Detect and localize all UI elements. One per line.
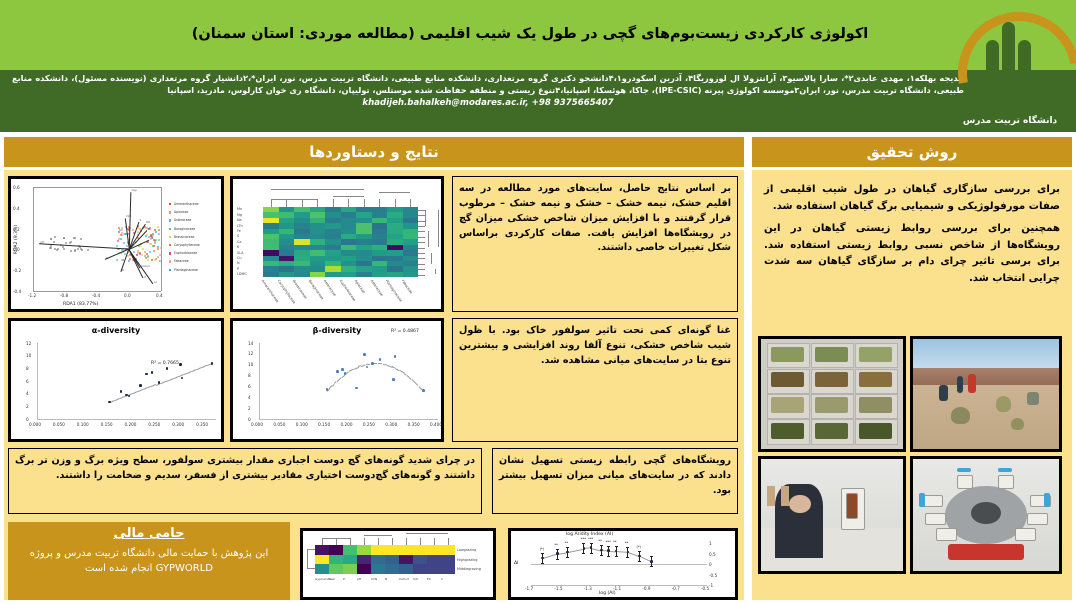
rda-species-point <box>157 248 159 250</box>
xtick: 0.250 <box>363 422 375 427</box>
heatmap-row-label: Mg <box>237 213 242 217</box>
facil-errorbar-cap <box>615 546 618 547</box>
facil-errorbar-cap <box>615 556 618 557</box>
grazing-row-label: Lowgrazing <box>457 548 476 552</box>
grazing-heatmap-cell <box>315 555 329 565</box>
rda-species-point <box>157 226 159 228</box>
rda-legend-swatch <box>169 236 171 238</box>
heatmap-row-label: Ca <box>237 240 241 244</box>
rda-species-point <box>157 256 159 258</box>
grazing-col-dendro-leaf <box>434 538 435 545</box>
data-point <box>181 377 184 380</box>
grazing-heatmap-cell <box>329 555 343 565</box>
facil-significance-label: *** <box>606 540 611 544</box>
ytick: 8 <box>248 373 251 378</box>
rda-species-point <box>81 249 83 251</box>
grazing-heatmap-cell <box>357 564 371 574</box>
facil-data-point <box>615 550 618 553</box>
rda-species-point <box>136 254 138 256</box>
grazing-heatmap-cell <box>343 555 357 565</box>
facil-errorbar-cap <box>607 546 610 547</box>
heatmap-cell <box>310 272 326 277</box>
photo-field-sampling-gypsum-site <box>910 336 1062 452</box>
rda-axis-frame <box>33 187 161 188</box>
facil-errorbar-cap <box>541 563 544 564</box>
grazing-col-dendro-leaf <box>406 538 407 545</box>
rda-species-point <box>124 233 126 235</box>
xtick: 0.150 <box>101 422 113 427</box>
rda-species-point <box>158 233 160 235</box>
facil-errorbar-cap <box>556 549 559 550</box>
heatmap-row-dendro-leaf <box>418 237 425 238</box>
rda-ytick: 0.0 <box>13 247 20 252</box>
ytick: 4 <box>248 395 251 400</box>
rda-species-point <box>151 259 153 261</box>
facil-errorbar-cap <box>590 553 593 554</box>
rda-species-point <box>80 238 82 240</box>
heatmap-row-dendro-link <box>435 269 436 274</box>
ytick: 6 <box>248 384 251 389</box>
facil-ytick: -0.5 <box>709 573 717 578</box>
section-header-results: نتایج و دستاوردها <box>4 137 744 167</box>
heatmap-col-dendro-leaf <box>348 199 349 207</box>
axis-y <box>37 343 38 419</box>
rda-species-point <box>77 248 79 250</box>
rda-species-point <box>147 259 149 261</box>
rda-plot-area: RDA1 (83.77%) RDA2 (9.3%) -1.2-0.8-0.40.… <box>11 179 221 309</box>
rda-legend-label: Caryophyllaceae <box>174 243 200 247</box>
rda-species-point <box>63 237 65 239</box>
rda-species-point <box>152 234 154 236</box>
heatmap-cell <box>387 272 403 277</box>
facil-data-point <box>650 560 653 563</box>
rda-env-label: C <box>106 257 108 260</box>
rda-legend-swatch <box>169 219 171 221</box>
heatmap-col-dendro-link <box>333 196 364 197</box>
rda-species-point <box>145 227 147 229</box>
heatmap-row-label: Na <box>237 218 242 222</box>
rda-species-point <box>132 229 134 231</box>
rda-xtick: -0.8 <box>60 293 68 298</box>
grazing-col-dendro-leaf <box>336 538 337 545</box>
heatmap-row-dendro-link <box>438 210 439 248</box>
rda-species-point <box>158 239 160 241</box>
heatmap-cell <box>341 272 357 277</box>
heatmap-col-label: Fabaceae <box>400 279 412 294</box>
rda-env-label: pH <box>40 241 44 244</box>
grazing-heatmap-cell <box>385 564 399 574</box>
heatmap-row-label: Fe <box>237 229 241 233</box>
rda-species-point <box>121 229 123 231</box>
grazing-heatmap-cell <box>441 545 455 555</box>
grazing-col-dendro-leaf <box>420 538 421 545</box>
rda-species-point <box>138 245 140 247</box>
heatmap-row-dendro-leaf <box>418 248 425 249</box>
rda-species-point <box>149 251 151 253</box>
rda-legend-label: Euphorbiaceae <box>174 251 197 255</box>
rda-env-label: AI <box>154 281 157 284</box>
rda-species-point <box>117 240 119 242</box>
photo-dried-plant-samples-trays <box>758 336 906 452</box>
heatmap-row-label: N <box>237 261 240 265</box>
heatmap-plot-area: MnMgNaLThFeSCaKSLACuNPLDMCAmaranthaceaeC… <box>233 179 441 309</box>
heatmap-cell <box>325 272 341 277</box>
facil-xtick: -0.7 <box>672 586 680 591</box>
results-text-2: غنا گونه‌ای کمی تحت تاثیر سولفور خاک بود… <box>452 318 738 442</box>
facil-significance-label: ** <box>598 539 601 543</box>
photo-lab-weighing-samples <box>758 456 906 574</box>
data-point <box>394 355 397 358</box>
axis-x <box>259 419 438 420</box>
method-paragraph-2: همچنین برای بررسی روابط زیستی گیاهان در … <box>764 221 1060 287</box>
heatmap-col-dendro-link <box>379 192 410 193</box>
rda-legend-label: Plantaginaceae <box>174 268 198 272</box>
xtick: 0.200 <box>341 422 353 427</box>
xtick: 0.350 <box>408 422 420 427</box>
ytick: 12 <box>26 341 31 346</box>
grazing-col-label: Cl/N <box>371 577 377 581</box>
grazing-heatmap-cell <box>399 545 413 555</box>
facil-errorbar-cap <box>582 553 585 554</box>
rda-ytick: 0.4 <box>13 206 20 211</box>
heatmap-col-dendro-leaf <box>395 199 396 207</box>
facil-ytick: 0 <box>709 562 712 567</box>
heatmap-row-label: P <box>237 267 239 271</box>
facil-ytick: -1 <box>709 583 713 588</box>
facil-significance-label: ** <box>613 540 616 544</box>
facil-data-point <box>583 547 586 550</box>
rda-legend-swatch <box>169 269 171 271</box>
grazing-heatmap-cell <box>413 564 427 574</box>
ytick: 10 <box>26 353 31 358</box>
data-point <box>128 395 131 398</box>
ytick: 6 <box>26 379 29 384</box>
grazing-heatmap-cell <box>315 545 329 555</box>
facil-ytick: 1 <box>709 541 712 546</box>
rda-species-point <box>70 250 72 252</box>
facil-significance-label: ** <box>565 541 568 545</box>
facil-data-point <box>556 552 559 555</box>
facil-fit-segment <box>568 548 584 552</box>
grazing-heatmap-cell <box>441 564 455 574</box>
facil-significance-label: *** <box>581 537 586 541</box>
grazing-heatmap-cell <box>427 545 441 555</box>
heatmap-cell <box>294 272 310 277</box>
grazing-heatmap-cell <box>371 564 385 574</box>
rda-x-axis <box>33 291 161 292</box>
rda-species-point <box>121 259 123 261</box>
rda-legend-swatch <box>169 244 171 246</box>
facil-errorbar-cap <box>556 559 559 560</box>
facil-errorbar-cap <box>638 551 641 552</box>
heatmap-row-label: LDMC <box>237 272 247 276</box>
rda-env-label: S <box>140 219 142 222</box>
rda-species-point <box>128 260 130 262</box>
grazing-col-dendro-leaf <box>392 538 393 545</box>
logo-leaf-icon <box>1002 22 1015 102</box>
rda-y-axis <box>33 187 34 291</box>
rda-species-point <box>50 247 52 249</box>
facil-errorbar-cap <box>650 566 653 567</box>
facil-data-point <box>607 549 610 552</box>
heatmap-row-dendro-link <box>425 210 426 226</box>
grazing-row-dendro-leaf <box>307 549 315 550</box>
rda-species-point <box>154 259 156 261</box>
data-point <box>355 387 358 390</box>
rda-species-point <box>118 227 120 229</box>
figure-facilitation-index: log (AI) log Aridity Index (AI) ΔI -1.7-… <box>508 528 738 600</box>
method-text-block: برای بررسی سازگاری گیاهان در طول شیب اقل… <box>758 178 1066 330</box>
rda-ytick: -0.4 <box>13 289 21 294</box>
xtick: 0.150 <box>318 422 330 427</box>
sponsor-box: حامی مالی این پژوهش با حمایت مالی دانشگا… <box>8 522 290 600</box>
rda-legend-label: Apiaceae <box>174 210 188 214</box>
rda-species-point <box>120 238 122 240</box>
heatmap-col-dendro-leaf <box>333 199 334 207</box>
data-point <box>371 362 374 365</box>
authors-block: خدیجه بهلکه۱، مهدی عابدی۲*، سارا پالاسیو… <box>8 71 968 131</box>
rda-species-point <box>54 236 56 238</box>
heatmap-row-label: SLA <box>237 251 243 255</box>
heatmap-cell <box>279 272 295 277</box>
grazing-col-dendro-leaf <box>364 538 365 545</box>
rda-legend-swatch <box>169 260 171 262</box>
grazing-heatmap-cell <box>427 555 441 565</box>
xtick: 0.300 <box>385 422 397 427</box>
rda-legend-label: Fabaceae <box>174 259 189 263</box>
facil-errorbar-cap <box>650 556 653 557</box>
ytick: 12 <box>248 351 253 356</box>
facil-errorbar-cap <box>566 557 569 558</box>
xtick: 0.350 <box>196 422 208 427</box>
heatmap-cell <box>372 272 388 277</box>
grazing-col-label: CaCo3 <box>399 577 409 581</box>
rda-env-label: Ca <box>150 237 153 240</box>
rda-env-label: CaCo3 <box>141 265 149 268</box>
facil-xtick: -1.1 <box>613 586 621 591</box>
facil-significance-label: (*) <box>540 547 544 551</box>
heatmap-row-label: Cu <box>237 256 242 260</box>
sponsor-title: حامی مالی <box>16 526 282 541</box>
ytick: 2 <box>26 404 29 409</box>
facil-errorbar-cap <box>566 547 569 548</box>
grazing-col-label: S <box>329 577 331 581</box>
grazing-row-label: Middlegrazing <box>457 567 481 571</box>
rda-legend-label: Asteraceae <box>174 218 191 222</box>
grazing-col-dendro-leaf <box>448 538 449 545</box>
grazing-heatmap-cell <box>357 555 371 565</box>
rda-legend-label: Amaranthaceae <box>174 202 199 206</box>
beta-plot-area: β-diversity R² = 0.4867 0.0000.0500.1000… <box>233 321 441 439</box>
facil-data-point <box>566 551 569 554</box>
rda-species-point <box>149 243 151 245</box>
data-point <box>120 390 123 393</box>
grazing-heatmap-cell <box>329 564 343 574</box>
grazing-heatmap-cell <box>343 545 357 555</box>
facil-errorbar-cap <box>638 561 641 562</box>
ytick: 0 <box>248 417 251 422</box>
data-point <box>392 378 395 381</box>
xtick: 0.400 <box>430 422 442 427</box>
data-point <box>139 384 142 387</box>
heatmap-row-dendro-link <box>428 231 429 247</box>
grazing-heatmap-cell <box>427 564 441 574</box>
grazing-heatmap-cell <box>399 564 413 574</box>
heatmap-row-dendro-leaf <box>418 264 425 265</box>
facil-ytick: 0.5 <box>709 552 716 557</box>
facil-errorbar-cap <box>541 553 544 554</box>
grazing-heatmap-cell <box>385 555 399 565</box>
data-point <box>363 353 366 356</box>
rda-legend-swatch <box>169 228 171 230</box>
data-point <box>166 367 169 370</box>
facil-zero-line <box>531 564 707 565</box>
grazing-col-label: Silt <box>413 577 418 581</box>
grazing-col-label: pH <box>357 577 361 581</box>
heatmap-row-dendro-link <box>431 253 432 264</box>
xtick: 0.200 <box>124 422 136 427</box>
data-point <box>341 368 344 371</box>
rda-axis-frame <box>161 187 162 291</box>
facil-errorbar-cap <box>582 543 585 544</box>
grazing-heatmap-cell <box>413 545 427 555</box>
data-point <box>422 389 425 392</box>
heatmap-col-dendro-leaf <box>317 199 318 207</box>
rda-species-point <box>69 242 71 244</box>
rda-species-point <box>137 252 139 254</box>
rda-species-point <box>154 242 156 244</box>
results-text-4: رویشگاه‌های گچی رابطه زیستی تسهیل نشان د… <box>492 448 738 514</box>
heatmap-col-dendro-leaf <box>286 199 287 207</box>
heatmap-row-dendro-leaf <box>418 226 425 227</box>
facil-significance-label: ** <box>554 543 557 547</box>
rda-species-point <box>74 250 76 252</box>
heatmap-col-label: Amaranthaceae <box>261 279 280 303</box>
results-text-1: بر اساس نتایج حاصل، سایت‌های مورد مطالعه… <box>452 176 738 312</box>
grazing-heatmap-cell <box>315 564 329 574</box>
contact-email: khadijeh.bahalkeh@modares.ac.ir, +98 937… <box>12 97 964 109</box>
heatmap-col-dendro-leaf <box>410 199 411 207</box>
fit-line-segment <box>150 385 153 387</box>
grazing-col-dendro-link <box>322 530 392 531</box>
rda-species-point <box>123 242 125 244</box>
rda-legend-label: Brassicaceae <box>174 235 194 239</box>
data-point <box>344 372 347 375</box>
rda-ytick: 0.2 <box>13 227 20 232</box>
rda-legend-swatch <box>169 203 171 205</box>
rda-xtick: 0.0 <box>124 293 131 298</box>
rda-legend-label: Boraginaceae <box>174 227 195 231</box>
figure-grazing-soil-heatmap: LowgrazingHighgrazingMiddlegrazingGypsum… <box>300 528 496 600</box>
figure-trait-family-heatmap: MnMgNaLThFeSCaKSLACuNPLDMCAmaranthaceaeC… <box>230 176 444 312</box>
authors-affiliations: خدیجه بهلکه۱، مهدی عابدی۲*، سارا پالاسیو… <box>12 73 964 95</box>
grazing-row-dendro-leaf <box>307 568 315 569</box>
poster-root: اکولوژی کارکردی زیست‌بوم‌های گچی در طول … <box>0 0 1076 604</box>
grazing-col-dendro-leaf <box>322 538 323 545</box>
heatmap-col-dendro-leaf <box>364 199 365 207</box>
rda-species-point <box>133 251 135 253</box>
rda-species-point <box>155 231 157 233</box>
grazing-heatmap-cell <box>357 545 371 555</box>
heatmap-col-label: Asteraceae <box>323 279 337 297</box>
data-point <box>145 373 148 376</box>
rda-legend-swatch <box>169 252 171 254</box>
xtick: 0.050 <box>273 422 285 427</box>
rda-species-point <box>53 241 55 243</box>
grazing-heatmap-cell <box>329 545 343 555</box>
rda-species-point <box>118 231 120 233</box>
facil-errorbar-cap <box>607 556 610 557</box>
rda-species-point <box>155 239 157 241</box>
grazing-col-label: N <box>385 577 387 581</box>
alpha-plot-area: α-diversity R² = 0.7665 0.0000.0500.1000… <box>11 321 221 439</box>
heatmap-row-label: Mn <box>237 207 242 211</box>
sponsor-body: این پژوهش با حمایت مالی دانشگاه تربیت مد… <box>16 546 282 576</box>
method-paragraph-1: برای بررسی سازگاری گیاهان در طول شیب اقل… <box>764 182 1060 215</box>
rda-env-label: Gyp <box>132 189 137 192</box>
page-title: اکولوژی کارکردی زیست‌بوم‌های گچی در طول … <box>150 0 910 70</box>
rda-species-point <box>57 248 59 250</box>
heatmap-row-dendro-leaf <box>418 231 425 232</box>
xtick: 0.100 <box>296 422 308 427</box>
ytick: 14 <box>248 341 253 346</box>
heatmap-col-label: Apiaceae <box>354 279 366 294</box>
grazing-col-dendro-link <box>364 535 392 536</box>
heatmap-col-dendro-leaf <box>302 199 303 207</box>
xtick: 0.000 <box>251 422 263 427</box>
rda-species-point <box>87 249 89 251</box>
rda-species-point <box>54 248 56 250</box>
ytick: 0 <box>26 417 29 422</box>
grazing-heatmap-plot-area: LowgrazingHighgrazingMiddlegrazingGypsum… <box>303 531 493 597</box>
rda-legend-swatch <box>169 211 171 213</box>
logo-leaf-icon <box>1018 40 1031 102</box>
data-point <box>379 358 382 361</box>
grazing-col-label: EC <box>427 577 431 581</box>
grazing-heatmap-cell <box>343 564 357 574</box>
heatmap-row-dendro-leaf <box>418 253 425 254</box>
heatmap-row-dendro-leaf <box>418 275 425 276</box>
grazing-col-label: C <box>441 577 443 581</box>
facil-errorbar-cap <box>590 543 593 544</box>
heatmap-row-dendro-leaf <box>418 215 425 216</box>
grazing-row-label: Highgrazing <box>457 558 477 562</box>
facil-xtick: -0.9 <box>642 586 650 591</box>
facil-errorbar-cap <box>600 545 603 546</box>
rda-xtick: -0.4 <box>92 293 100 298</box>
heatmap-col-dendro-link <box>271 199 318 200</box>
grazing-heatmap-cell <box>371 545 385 555</box>
rda-ytick: 0.6 <box>13 185 20 190</box>
rda-species-point <box>153 250 155 252</box>
alpha-chart-title: α-diversity <box>11 326 221 335</box>
heatmap-row-dendro-leaf <box>418 221 425 222</box>
rda-env-label: N <box>122 269 124 272</box>
facil-xtick: -0.5 <box>701 586 709 591</box>
figure-beta-diversity: β-diversity R² = 0.4867 0.0000.0500.1000… <box>230 318 444 442</box>
facil-errorbar-cap <box>626 547 629 548</box>
ytick: 2 <box>248 406 251 411</box>
heatmap-cell <box>356 272 372 277</box>
photo-soil-extraction-shaker <box>910 456 1062 574</box>
heatmap-row-dendro-leaf <box>418 210 425 211</box>
heatmap-col-dendro-leaf <box>271 199 272 207</box>
heatmap-row-dendro-leaf <box>418 258 425 259</box>
ytick: 10 <box>248 362 253 367</box>
grazing-col-label: Gypsumdiast <box>315 577 335 581</box>
heatmap-row-label: LTh <box>237 224 243 228</box>
rda-species-point <box>160 247 162 249</box>
